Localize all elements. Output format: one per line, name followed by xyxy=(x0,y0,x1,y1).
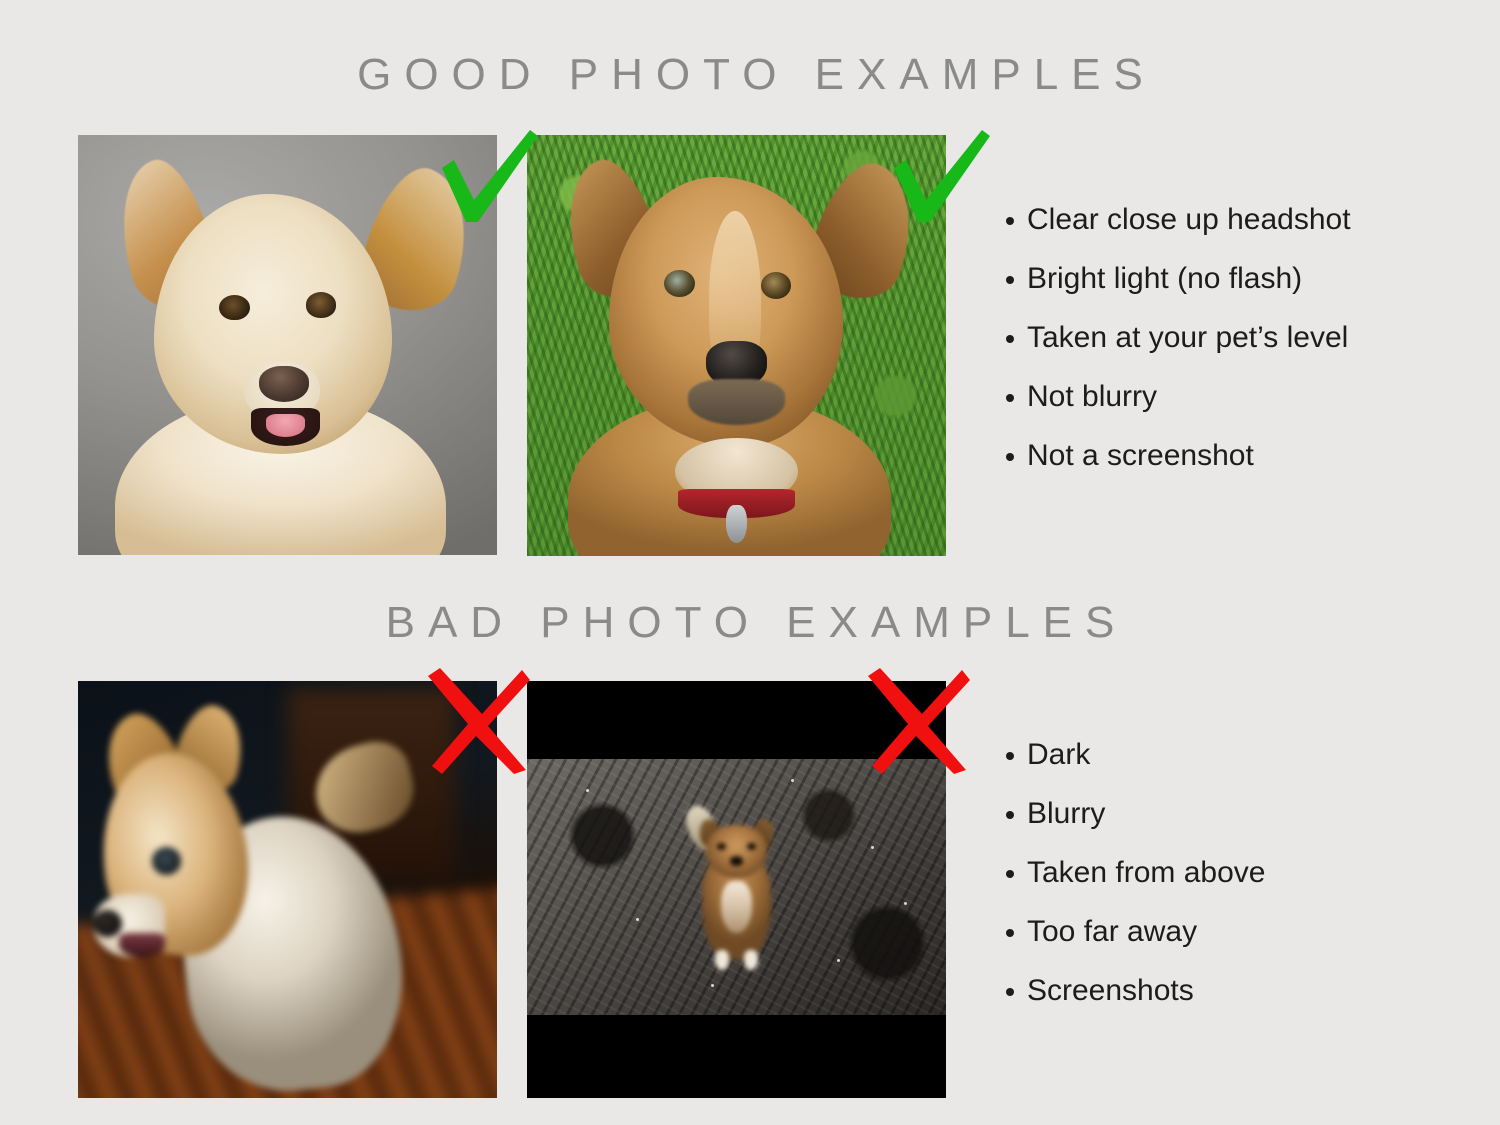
dog-eye-left xyxy=(664,270,695,297)
dog-eye-right xyxy=(306,292,337,317)
list-item: Taken at your pet’s level xyxy=(1006,323,1351,353)
list-item-label: Clear close up headshot xyxy=(1027,205,1351,235)
bad-photo-2 xyxy=(527,681,946,1098)
bullet-dot-icon xyxy=(1006,453,1014,461)
list-item: Clear close up headshot xyxy=(1006,205,1351,235)
screenshot-content-area xyxy=(527,759,946,1015)
letterbox-background xyxy=(527,681,946,1098)
bullet-dot-icon xyxy=(1006,217,1014,225)
dark-indoor-background xyxy=(78,681,497,1098)
bullet-dot-icon xyxy=(1006,988,1014,996)
dog-mouth xyxy=(119,933,165,957)
cream-dog-illustration xyxy=(107,152,467,555)
dog-tail xyxy=(306,735,422,842)
list-item-label: Screenshots xyxy=(1027,976,1194,1006)
dog-eye xyxy=(152,847,181,874)
ground-speck xyxy=(791,779,794,782)
dog-paw-right xyxy=(744,950,758,970)
bad-photo-problems-list: Dark Blurry Taken from above Too far awa… xyxy=(1006,740,1265,1035)
bullet-dot-icon xyxy=(1006,811,1014,819)
good-photo-1 xyxy=(78,135,497,555)
list-item: Not a screenshot xyxy=(1006,441,1351,471)
dog-eye-left xyxy=(219,295,250,320)
list-item: Not blurry xyxy=(1006,382,1351,412)
list-item-label: Taken at your pet’s level xyxy=(1027,323,1348,353)
blurry-dog-illustration xyxy=(86,706,413,1098)
ground-speck xyxy=(871,846,874,849)
bullet-dot-icon xyxy=(1006,929,1014,937)
distant-dog-illustration xyxy=(682,802,791,966)
bullet-dot-icon xyxy=(1006,335,1014,343)
bullet-dot-icon xyxy=(1006,870,1014,878)
list-item-label: Not a screenshot xyxy=(1027,441,1254,471)
dog-eye-left xyxy=(717,843,726,850)
ground-speck xyxy=(837,959,840,962)
good-photo-2 xyxy=(527,135,946,556)
dog-head xyxy=(706,825,767,878)
good-photo-section-heading: GOOD PHOTO EXAMPLES xyxy=(0,50,1500,100)
list-item: Taken from above xyxy=(1006,858,1265,888)
studio-background xyxy=(78,135,497,555)
bullet-dot-icon xyxy=(1006,276,1014,284)
dog-collar-tag xyxy=(726,505,747,543)
ground-speck xyxy=(711,984,714,987)
list-item: Bright light (no flash) xyxy=(1006,264,1351,294)
list-item: Dark xyxy=(1006,740,1265,770)
bad-photo-section-heading: BAD PHOTO EXAMPLES xyxy=(0,598,1500,648)
golden-dog-illustration xyxy=(565,143,909,556)
bad-photo-1 xyxy=(78,681,497,1098)
list-item-label: Blurry xyxy=(1027,799,1105,829)
dog-paw-left xyxy=(715,950,729,970)
list-item: Screenshots xyxy=(1006,976,1265,1006)
list-item-label: Not blurry xyxy=(1027,382,1157,412)
list-item: Too far away xyxy=(1006,917,1265,947)
ground-speck xyxy=(586,789,589,792)
ground-speck xyxy=(636,918,639,921)
dog-nose xyxy=(259,366,309,402)
list-item-label: Bright light (no flash) xyxy=(1027,264,1302,294)
dog-chest-bib xyxy=(721,881,752,934)
bullet-dot-icon xyxy=(1006,752,1014,760)
dog-eye-right xyxy=(747,843,756,850)
list-item-label: Dark xyxy=(1027,740,1090,770)
grass-background xyxy=(527,135,946,556)
good-photo-requirements-list: Clear close up headshot Bright light (no… xyxy=(1006,205,1351,500)
bullet-dot-icon xyxy=(1006,394,1014,402)
ground-speck xyxy=(904,902,907,905)
infographic-canvas: GOOD PHOTO EXAMPLES xyxy=(0,0,1500,1125)
list-item: Blurry xyxy=(1006,799,1265,829)
list-item-label: Too far away xyxy=(1027,917,1197,947)
list-item-label: Taken from above xyxy=(1027,858,1265,888)
